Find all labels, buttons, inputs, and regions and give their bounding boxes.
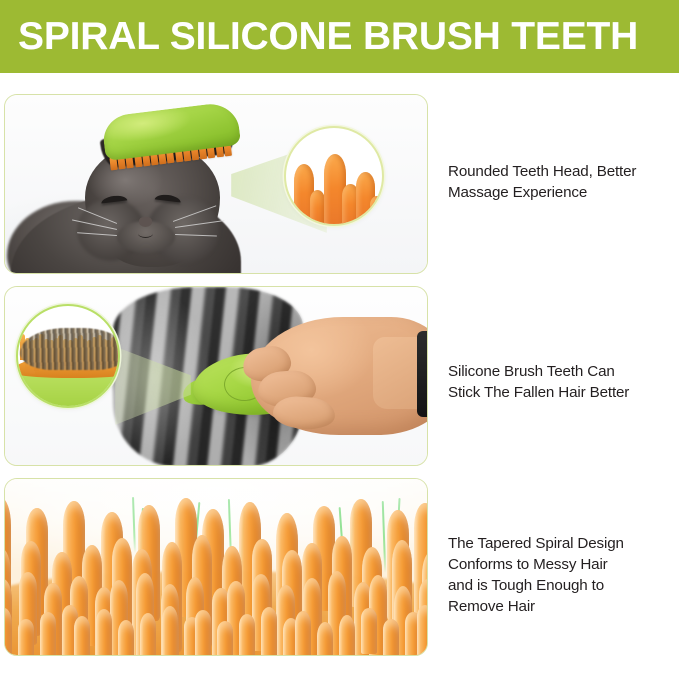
product-photo-macro-spiral-teeth (5, 479, 427, 655)
spiral-tooth (295, 611, 311, 655)
magnified-teeth (286, 128, 382, 224)
magnifier-bubble-rounded-teeth (284, 126, 384, 226)
feature-panel-1 (4, 94, 428, 274)
caption-line: Remove Hair (448, 596, 674, 617)
spiral-tooth (339, 615, 355, 655)
magnifier-bubble-fallen-hair (16, 304, 120, 408)
magnified-tooth (310, 190, 325, 226)
spiral-tooth (383, 619, 399, 655)
caption-line: Massage Experience (448, 182, 674, 203)
sleeve (417, 331, 427, 417)
header-banner: SPIRAL SILICONE BRUSH TEETH (0, 0, 679, 73)
feature-panel-2 (4, 286, 428, 466)
spiral-tooth (261, 607, 277, 655)
trapped-fallen-hair (20, 328, 120, 370)
spiral-tooth (18, 619, 34, 655)
caption-line: and is Tough Enough to (448, 575, 674, 596)
spiral-tooth (5, 608, 12, 655)
caption-line: Stick The Fallen Hair Better (448, 382, 674, 403)
spiral-tooth (317, 622, 333, 655)
spiral-tooth (217, 621, 233, 655)
page-title: SPIRAL SILICONE BRUSH TEETH (0, 17, 638, 56)
feature-caption-2: Silicone Brush Teeth Can Stick The Falle… (448, 361, 674, 403)
spiral-tooth (361, 608, 377, 654)
tapered-spiral-teeth (5, 479, 427, 655)
caption-line: Silicone Brush Teeth Can (448, 361, 674, 382)
feature-caption-1: Rounded Teeth Head, Better Massage Exper… (448, 161, 674, 203)
cat-mouth (138, 229, 153, 238)
spiral-tooth (417, 605, 427, 655)
product-photo-cat-head-brushing (5, 95, 427, 273)
feature-panel-3 (4, 478, 428, 656)
spiral-tooth (74, 616, 90, 655)
caption-line: The Tapered Spiral Design (448, 533, 674, 554)
spiral-tooth (96, 609, 112, 655)
spiral-tooth (162, 606, 178, 655)
cat-nose (139, 217, 152, 227)
magnified-tooth (370, 196, 384, 226)
caption-line: Conforms to Messy Hair (448, 554, 674, 575)
spiral-tooth (239, 614, 255, 655)
spiral-tooth (40, 612, 56, 655)
spiral-tooth (118, 620, 134, 655)
caption-line: Rounded Teeth Head, Better (448, 161, 674, 182)
spiral-tooth (195, 610, 211, 655)
spiral-tooth (140, 613, 156, 655)
product-photo-hand-brushing-cat (5, 287, 427, 465)
feature-caption-3: The Tapered Spiral Design Conforms to Me… (448, 533, 674, 617)
